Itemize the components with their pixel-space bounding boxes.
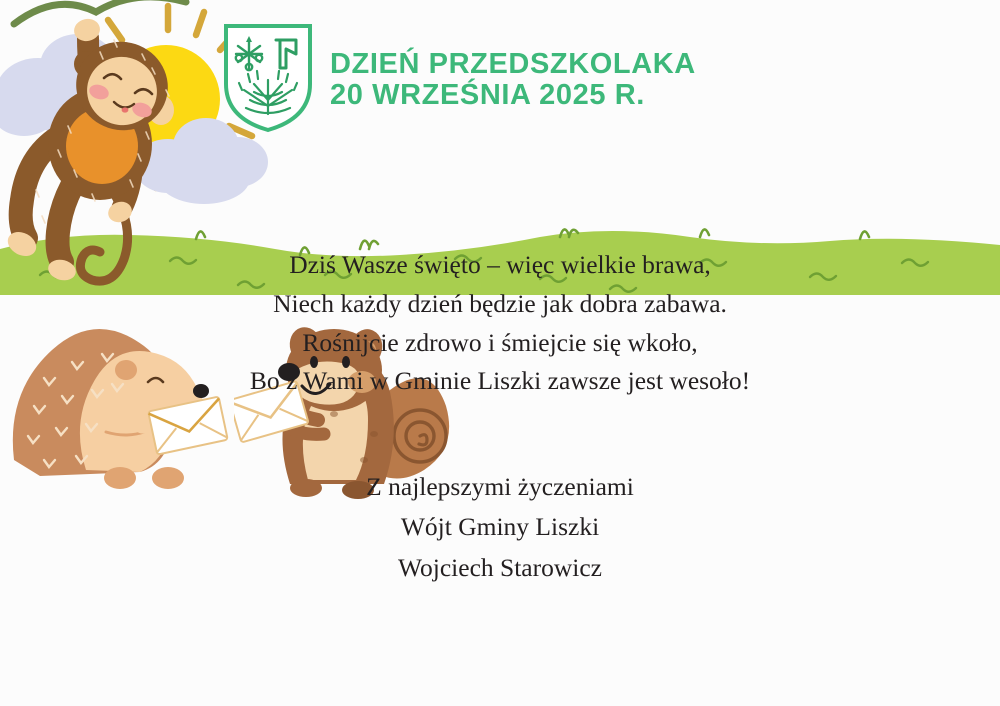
poem-line: Niech każdy dzień będzie jak dobra zabaw… — [0, 285, 1000, 324]
gmina-liszki-coat-of-arms — [220, 22, 316, 134]
poem-block: Dziś Wasze święto – więc wielkie brawa, … — [0, 246, 1000, 401]
poem-line: Rośnijcie zdrowo i śmiejcie się wkoło, — [0, 324, 1000, 363]
header-title-block: DZIEŃ PRZEDSZKOLAKA 20 WRZEŚNIA 2025 R. — [330, 45, 696, 112]
poem-line: Dziś Wasze święto – więc wielkie brawa, — [0, 246, 1000, 285]
signature-block: Z najlepszymi życzeniami Wójt Gminy Lisz… — [0, 467, 1000, 588]
header: DZIEŃ PRZEDSZKOLAKA 20 WRZEŚNIA 2025 R. — [220, 22, 696, 134]
signature-line: Wójt Gminy Liszki — [0, 507, 1000, 547]
signature-line: Z najlepszymi życzeniami — [0, 467, 1000, 507]
title-line-2: 20 WRZEŚNIA 2025 R. — [330, 80, 696, 111]
greeting-card: DZIEŃ PRZEDSZKOLAKA 20 WRZEŚNIA 2025 R. — [0, 0, 1000, 706]
signature-line: Wojciech Starowicz — [0, 548, 1000, 588]
title-line-1: DZIEŃ PRZEDSZKOLAKA — [330, 49, 696, 80]
poem-line: Bo z Wami w Gminie Liszki zawsze jest we… — [0, 362, 1000, 401]
